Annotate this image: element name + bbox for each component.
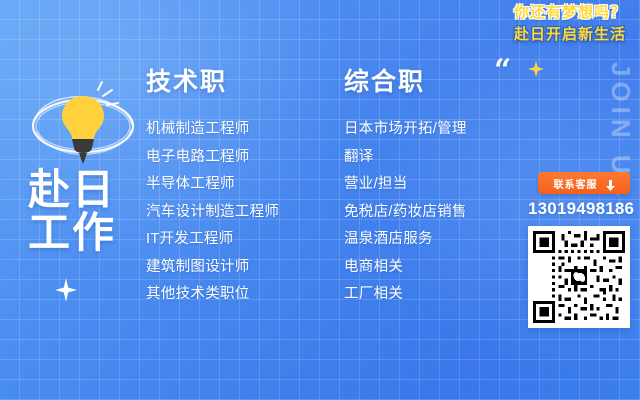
list-item: 汽车设计制造工程师 [146,205,279,220]
column-tech: 技术职 机械制造工程师 电子电路工程师 半导体工程师 汽车设计制造工程师 IT开… [146,62,279,315]
list-item: 工厂相关 [344,287,467,302]
job-list-general: 日本市场开拓/管理 翻译 营业/担当 免税店/药妆店销售 温泉酒店服务 电商相关… [344,122,467,302]
page-title-line-2: 工作 [28,211,116,254]
list-item: 机械制造工程师 [146,122,279,137]
slogan-line-2: 赴日开启新生活 [514,26,626,44]
column-general: 综合职 日本市场开拓/管理 翻译 营业/担当 免税店/药妆店销售 温泉酒店服务 … [344,62,467,315]
list-item: 半导体工程师 [146,177,279,192]
list-item: 建筑制图设计师 [146,260,279,275]
poster-canvas: JOIN US 你还有梦想吗？ 赴日开启新生活 “ [0,0,640,400]
quote-mark-icon: “ [494,56,511,86]
qr-code[interactable] [528,226,630,328]
list-item: 免税店/药妆店销售 [344,205,467,220]
arrow-down-icon [606,178,615,189]
column-title-general: 综合职 [344,62,467,98]
list-item: 电商相关 [344,260,467,275]
lightbulb-icon [24,78,142,170]
page-title: 赴日 工作 [28,168,116,255]
job-list-tech: 机械制造工程师 电子电路工程师 半导体工程师 汽车设计制造工程师 IT开发工程师… [146,122,279,302]
list-item: 其他技术类职位 [146,287,279,302]
sparkle-icon [55,278,77,302]
page-title-line-1: 赴日 [28,168,116,211]
slogan-block: 你还有梦想吗？ 赴日开启新生活 [514,4,626,43]
list-item: IT开发工程师 [146,232,279,247]
contact-phone-number: 13019498186 [528,199,632,219]
contact-support-label: 联系客服 [554,176,598,191]
list-item: 电子电路工程师 [146,150,279,165]
sparkle-icon [528,61,544,77]
list-item: 日本市场开拓/管理 [344,122,467,137]
contact-support-button[interactable]: 联系客服 [538,172,630,194]
list-item: 温泉酒店服务 [344,232,467,247]
list-item: 翻译 [344,150,467,165]
list-item: 营业/担当 [344,177,467,192]
slogan-line-1: 你还有梦想吗？ [514,4,626,22]
column-title-tech: 技术职 [146,62,279,98]
